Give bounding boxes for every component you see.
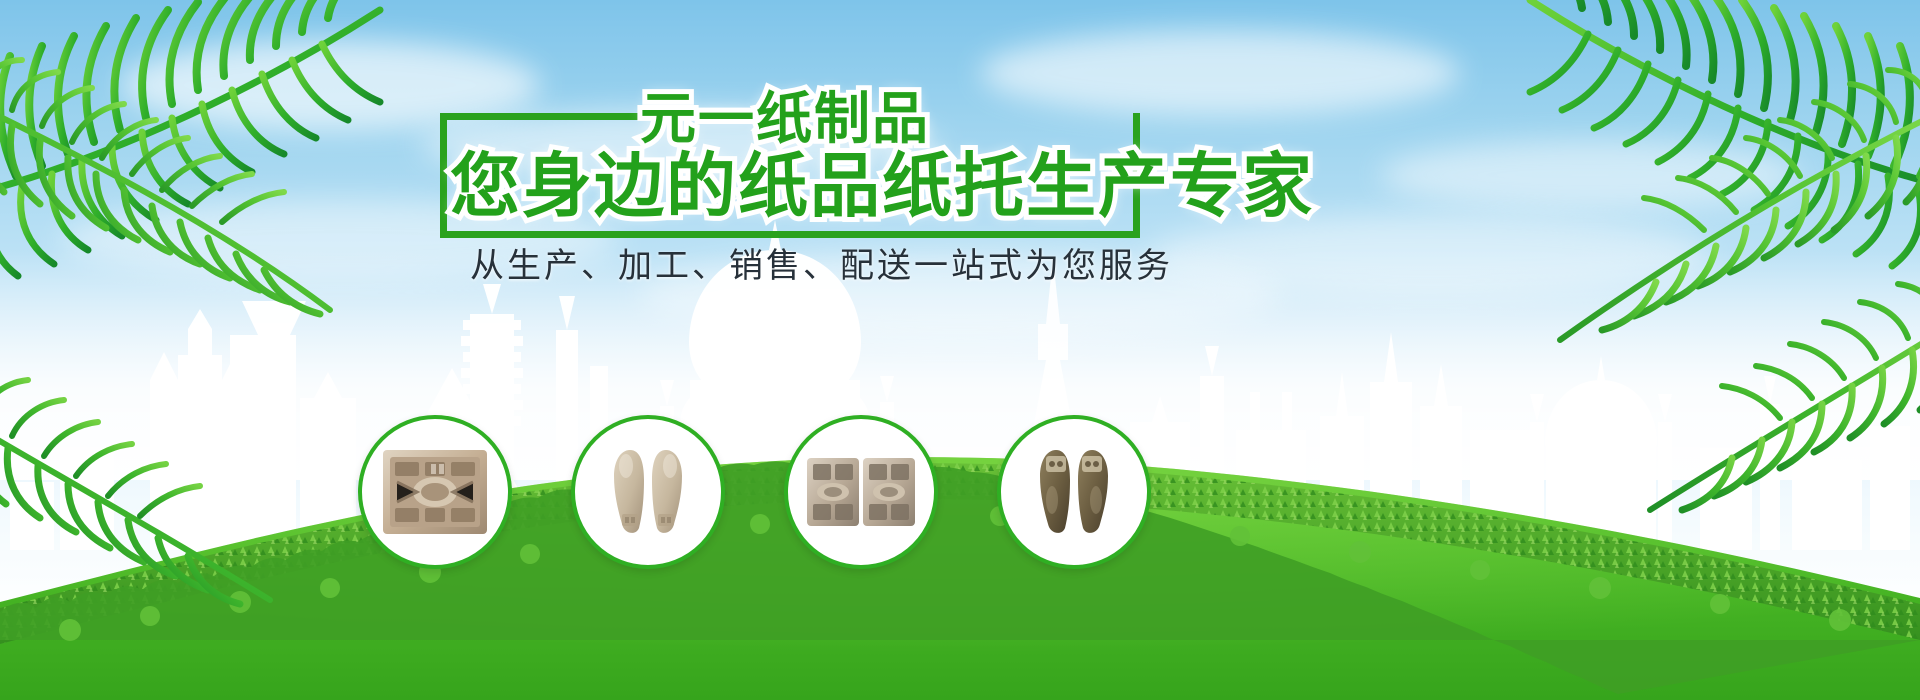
bracket-left-rule [440,113,447,238]
headline-line-2: 您身边的纸品纸托生产专家 [450,130,1314,231]
shoe-tree-dark-icon [1018,444,1130,540]
product-circle-pulp-double-tray[interactable] [784,415,938,569]
shoe-tree-icon [592,444,704,540]
product-circle-pulp-tray[interactable] [358,415,512,569]
product-circle-row [0,360,1920,700]
headline-block: 元一纸制品 您身边的纸品纸托生产专家 [440,78,1140,238]
pulp-double-tray-icon [805,444,917,540]
palm-leaf-icon [0,60,340,340]
promo-banner: 元一纸制品 您身边的纸品纸托生产专家 从生产、加工、销售、配送一站式为您服务 [0,0,1920,700]
pulp-tray-icon [379,444,491,540]
subtitle-text: 从生产、加工、销售、配送一站式为您服务 [470,238,1120,287]
bracket-bottom-rule [440,231,1140,238]
product-circle-shoe-tree-dark[interactable] [997,415,1151,569]
product-circle-shoe-tree-light[interactable] [571,415,725,569]
